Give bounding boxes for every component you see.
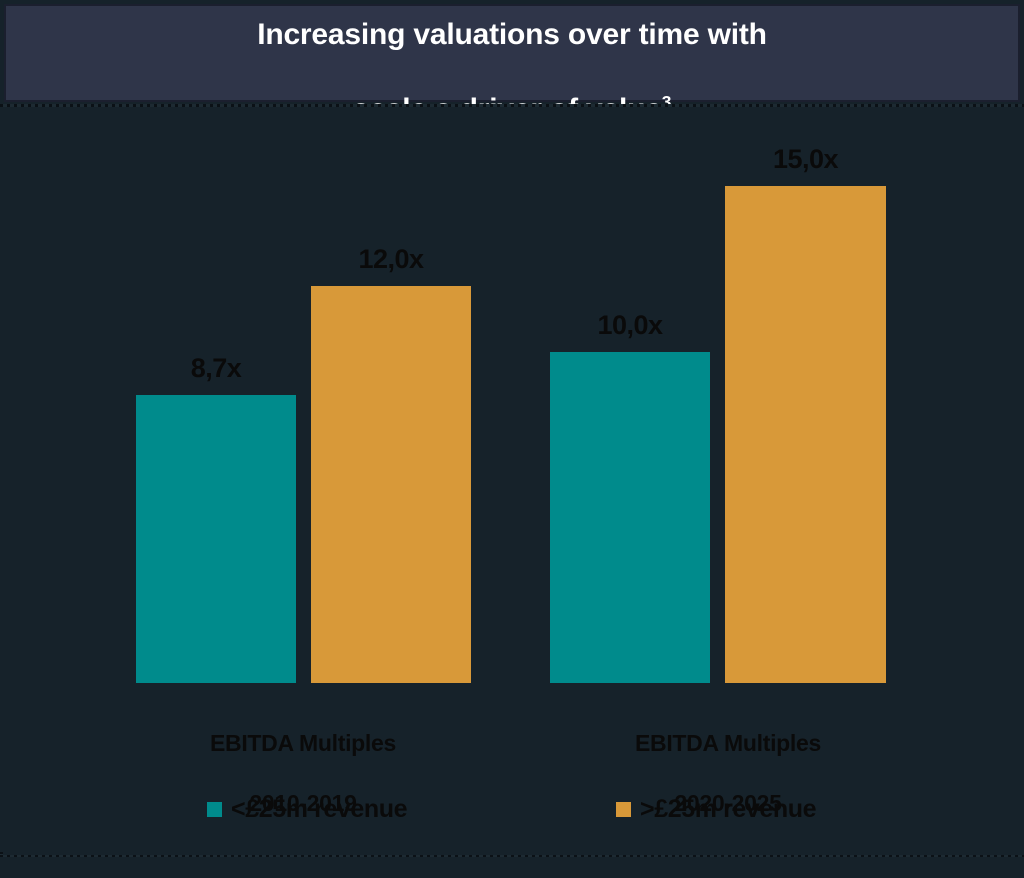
title-line-1: Increasing valuations over time with [257,18,767,51]
bar-ebitda-2010-2019-large[interactable] [311,286,471,683]
footer-divider [0,855,1024,857]
legend-label: >£25m revenue [640,795,816,824]
bar-ebitda-2010-2019-small[interactable] [136,395,296,683]
bar-value-label: 10,0x [550,310,710,341]
category-line-1: EBITDA Multiples [635,730,821,756]
legend-item-large-revenue[interactable]: >£25m revenue [616,795,816,824]
title-banner: Increasing valuations over time with sca… [4,4,1020,102]
bar-value-label: 12,0x [311,244,471,275]
chart-slide: Increasing valuations over time with sca… [0,0,1024,878]
bar-ebitda-2020-2025-large[interactable] [725,186,886,683]
chart-legend: <£25m revenue >£25m revenue [0,795,1024,835]
chart-area: 8,7x 12,0x 10,0x 15,0x EBITDA Multiples … [0,107,1024,852]
legend-swatch-icon [616,802,631,817]
legend-label: <£25m revenue [231,795,407,824]
bar-value-label: 8,7x [136,353,296,384]
legend-item-small-revenue[interactable]: <£25m revenue [207,795,407,824]
bar-ebitda-2020-2025-small[interactable] [550,352,710,683]
bar-value-label: 15,0x [726,144,886,175]
bar-plot: 8,7x 12,0x 10,0x 15,0x [0,107,1024,683]
legend-swatch-icon [207,802,222,817]
category-line-1: EBITDA Multiples [210,730,396,756]
